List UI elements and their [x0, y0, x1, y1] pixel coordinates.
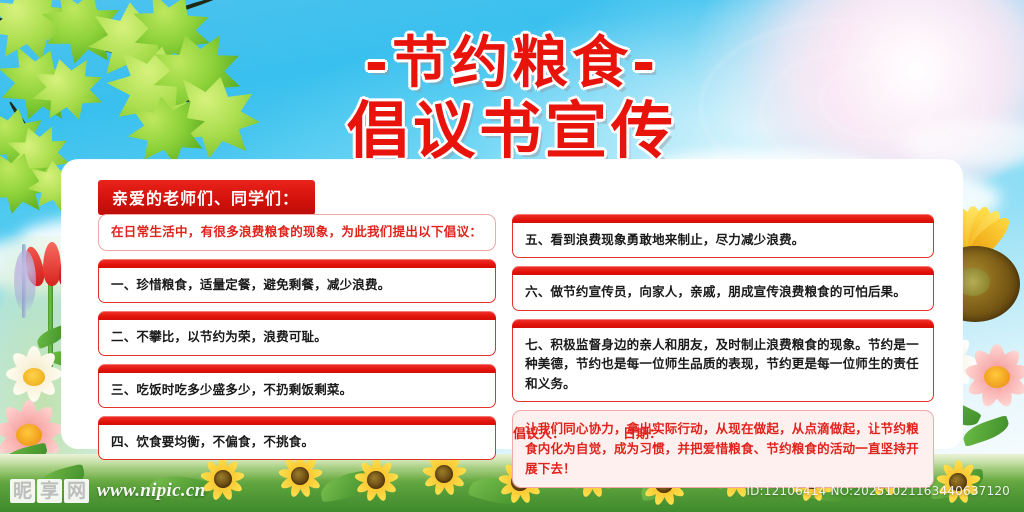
watermark-url: www.nipic.cn	[97, 480, 205, 502]
site-watermark: 昵 享 网 www.nipic.cn	[10, 479, 205, 503]
poster-canvas: -节约粮食- 倡议书宣传 亲爱的老师们、同学们： 在日常生活中，有很多浪费粮食的…	[0, 0, 1024, 512]
proposal-item: 三、吃饭时吃多少盛多少，不扔剩饭剩菜。	[98, 364, 496, 408]
proposal-item: 二、不攀比，以节约为荣，浪费可耻。	[98, 311, 496, 355]
title-line-1: -节约粮食-	[0, 36, 1024, 92]
watermark-logo-char: 享	[37, 479, 62, 503]
proposal-item: 七、积极监督身边的亲人和朋友，及时制止浪费粮食的现象。节约是一种美德，节约也是每…	[512, 319, 934, 402]
title-line-2: 倡议书宣传	[0, 100, 1024, 162]
left-column: 在日常生活中，有很多浪费粮食的现象，为此我们提出以下倡议： 一、珍惜粮食，适量定…	[98, 214, 496, 488]
item-text: 六、做节约宣传员，向家人，亲戚，朋成宣传浪费粮食的可怕后果。	[512, 275, 934, 310]
date-label: 日期：	[623, 423, 662, 442]
item-text: 二、不攀比，以节约为荣，浪费可耻。	[98, 320, 496, 355]
signature-row: 倡议人： 日期：	[62, 423, 962, 442]
intro-box: 在日常生活中，有很多浪费粮食的现象，为此我们提出以下倡议：	[98, 214, 496, 251]
content-columns: 在日常生活中，有很多浪费粮食的现象，为此我们提出以下倡议： 一、珍惜粮食，适量定…	[98, 214, 934, 488]
item-text: 五、看到浪费现象勇敢地来制止，尽力减少浪费。	[512, 223, 934, 258]
proposal-item: 五、看到浪费现象勇敢地来制止，尽力减少浪费。	[512, 214, 934, 258]
watermark-logo: 昵 享 网	[10, 479, 89, 503]
addressee-banner: 亲爱的老师们、同学们：	[98, 180, 315, 215]
item-text: 一、珍惜粮食，适量定餐，避免剩餐，减少浪费。	[98, 268, 496, 303]
watermark-logo-char: 网	[64, 479, 89, 503]
right-column: 五、看到浪费现象勇敢地来制止，尽力减少浪费。 六、做节约宣传员，向家人，亲戚，朋…	[512, 214, 934, 488]
proposer-label: 倡议人：	[513, 423, 565, 442]
proposal-item: 六、做节约宣传员，向家人，亲戚，朋成宣传浪费粮食的可怕后果。	[512, 266, 934, 310]
watermark-logo-char: 昵	[10, 479, 35, 503]
proposal-item: 一、珍惜粮食，适量定餐，避免剩餐，减少浪费。	[98, 259, 496, 303]
content-panel: 亲爱的老师们、同学们： 在日常生活中，有很多浪费粮食的现象，为此我们提出以下倡议…	[62, 160, 962, 448]
conclusion-box: 让我们同心协力，拿出实际行动，从现在做起，从点滴做起，让节约粮食内化为自觉，成为…	[512, 410, 934, 488]
poster-title: -节约粮食- 倡议书宣传	[0, 36, 1024, 162]
item-text: 七、积极监督身边的亲人和朋友，及时制止浪费粮食的现象。节约是一种美德，节约也是每…	[512, 328, 934, 402]
image-id-label: ID:12106414 NO:20251021163440637120	[746, 484, 1010, 498]
item-text: 三、吃饭时吃多少盛多少，不扔剩饭剩菜。	[98, 373, 496, 408]
